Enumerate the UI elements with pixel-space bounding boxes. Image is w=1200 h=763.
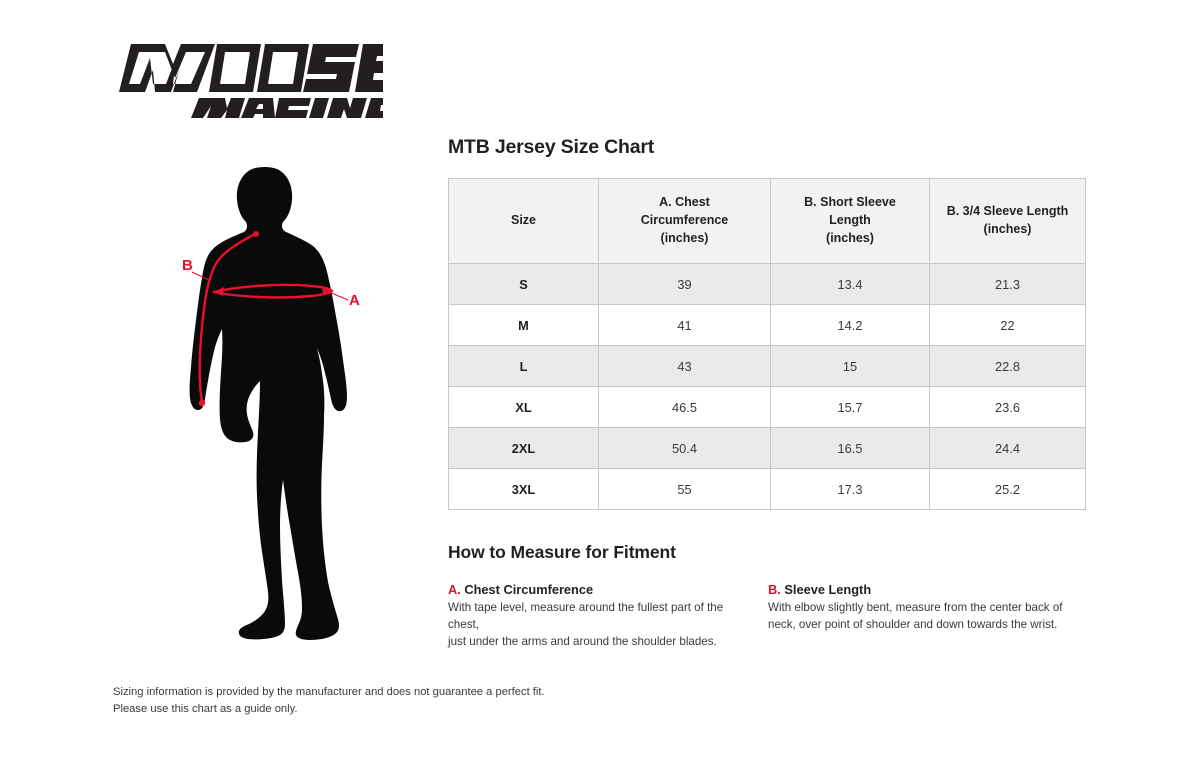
body-line: neck, over point of shoulder and down to… — [768, 618, 1057, 631]
racing-wordmark-icon: R — [191, 98, 383, 119]
header-line: (inches) — [661, 231, 709, 245]
cell-size: M — [449, 305, 599, 346]
body-line: With elbow slightly bent, measure from t… — [768, 601, 1063, 614]
cell-three-quarter: 24.4 — [930, 428, 1086, 469]
how-to-measure-heading: B. Sleeve Length — [768, 582, 1088, 597]
disclaimer-line: Please use this chart as a guide only. — [113, 703, 298, 715]
how-to-measure-heading: A. Chest Circumference — [448, 582, 746, 597]
cell-three-quarter: 22 — [930, 305, 1086, 346]
cell-chest: 55 — [599, 469, 771, 510]
cell-size: XL — [449, 387, 599, 428]
table-row: 2XL 50.4 16.5 24.4 — [449, 428, 1086, 469]
cell-three-quarter: 23.6 — [930, 387, 1086, 428]
how-to-measure-body: With tape level, measure around the full… — [448, 600, 746, 651]
how-to-measure-body: With elbow slightly bent, measure from t… — [768, 600, 1088, 634]
column-header-size: Size — [449, 179, 599, 264]
header-line: A. Chest — [659, 195, 710, 209]
cell-three-quarter: 25.2 — [930, 469, 1086, 510]
moose-wordmark-icon — [119, 44, 383, 92]
header-line: B. Short Sleeve — [804, 195, 896, 209]
column-header-short-sleeve: B. Short Sleeve Length (inches) — [771, 179, 930, 264]
cell-short-sleeve: 15 — [771, 346, 930, 387]
cell-chest: 43 — [599, 346, 771, 387]
header-line: B. 3/4 Sleeve Length — [947, 204, 1069, 218]
footer-disclaimer: Sizing information is provided by the ma… — [113, 684, 633, 719]
cell-chest: 41 — [599, 305, 771, 346]
table-row: S 39 13.4 21.3 — [449, 264, 1086, 305]
how-to-measure-item-b: B. Sleeve Length With elbow slightly ben… — [768, 582, 1088, 651]
table-row: M 41 14.2 22 — [449, 305, 1086, 346]
size-chart-page: R — [0, 0, 1200, 763]
body-silhouette-icon — [190, 167, 347, 640]
column-header-chest: A. Chest Circumference (inches) — [599, 179, 771, 264]
how-to-measure-title: How to Measure for Fitment — [448, 542, 1088, 563]
figure-label-b: B — [182, 257, 193, 274]
header-line: (inches) — [984, 222, 1032, 236]
cell-short-sleeve: 14.2 — [771, 305, 930, 346]
cell-short-sleeve: 16.5 — [771, 428, 930, 469]
chart-content: MTB Jersey Size Chart Size A. Chest Circ… — [448, 136, 1088, 651]
table-row: L 43 15 22.8 — [449, 346, 1086, 387]
cell-chest: 50.4 — [599, 428, 771, 469]
cell-three-quarter: 22.8 — [930, 346, 1086, 387]
header-line: Size — [511, 213, 536, 227]
cell-short-sleeve: 17.3 — [771, 469, 930, 510]
table-body: S 39 13.4 21.3 M 41 14.2 22 L 43 15 22.8 — [449, 264, 1086, 510]
header-line: Length — [829, 213, 871, 227]
cell-size: 2XL — [449, 428, 599, 469]
disclaimer-line: Sizing information is provided by the ma… — [113, 686, 545, 698]
marker-b: B. — [768, 582, 781, 597]
cell-chest: 46.5 — [599, 387, 771, 428]
body-line: just under the arms and around the shoul… — [448, 635, 717, 648]
how-to-measure-item-a: A. Chest Circumference With tape level, … — [448, 582, 768, 651]
table-header: Size A. Chest Circumference (inches) B. … — [449, 179, 1086, 264]
body-line: With tape level, measure around the full… — [448, 601, 723, 631]
cell-short-sleeve: 15.7 — [771, 387, 930, 428]
cell-short-sleeve: 13.4 — [771, 264, 930, 305]
how-to-measure-columns: A. Chest Circumference With tape level, … — [448, 582, 1088, 651]
column-header-three-quarter-sleeve: B. 3/4 Sleeve Length (inches) — [930, 179, 1086, 264]
table-row: XL 46.5 15.7 23.6 — [449, 387, 1086, 428]
cell-three-quarter: 21.3 — [930, 264, 1086, 305]
measurement-figure: B A — [178, 162, 364, 657]
header-line: Circumference — [641, 213, 729, 227]
figure-label-a: A — [349, 292, 360, 309]
heading-text: Chest Circumference — [464, 582, 593, 597]
page-title: MTB Jersey Size Chart — [448, 136, 1088, 159]
heading-text: Sleeve Length — [784, 582, 871, 597]
cell-size: S — [449, 264, 599, 305]
table-header-row: Size A. Chest Circumference (inches) B. … — [449, 179, 1086, 264]
cell-chest: 39 — [599, 264, 771, 305]
brand-logo: R — [113, 30, 383, 120]
cell-size: L — [449, 346, 599, 387]
table-row: 3XL 55 17.3 25.2 — [449, 469, 1086, 510]
size-chart-table: Size A. Chest Circumference (inches) B. … — [448, 178, 1086, 510]
cell-size: 3XL — [449, 469, 599, 510]
marker-a: A. — [448, 582, 461, 597]
header-line: (inches) — [826, 231, 874, 245]
